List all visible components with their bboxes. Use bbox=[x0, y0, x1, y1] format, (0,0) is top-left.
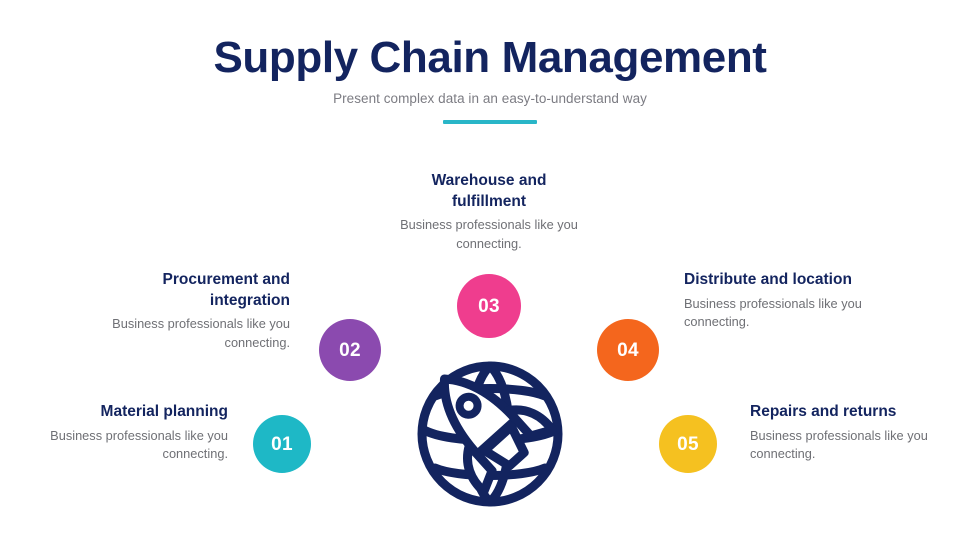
step-description-03: Business professionals like you connecti… bbox=[399, 216, 579, 254]
step-circle-01[interactable]: 01 bbox=[253, 415, 311, 473]
rocket-window bbox=[456, 393, 481, 418]
step-number-03: 03 bbox=[478, 297, 500, 316]
step-description-01: Business professionals like you connecti… bbox=[20, 427, 228, 465]
step-title-05: Repairs and returns bbox=[750, 402, 958, 423]
step-circle-02[interactable]: 02 bbox=[319, 319, 381, 381]
step-text-03: Warehouse and fulfillment Business profe… bbox=[399, 171, 579, 254]
step-description-02: Business professionals like you connecti… bbox=[96, 315, 290, 353]
step-circle-03[interactable]: 03 bbox=[457, 274, 521, 338]
step-circle-05[interactable]: 05 bbox=[659, 415, 717, 473]
step-text-05: Repairs and returns Business professiona… bbox=[750, 402, 958, 464]
step-description-05: Business professionals like you connecti… bbox=[750, 427, 958, 465]
step-text-01: Material planning Business professionals… bbox=[20, 402, 228, 464]
slide-header: Supply Chain Management Present complex … bbox=[0, 34, 980, 124]
step-circle-04[interactable]: 04 bbox=[597, 319, 659, 381]
step-title-02: Procurement and integration bbox=[96, 270, 290, 311]
slide-canvas: Supply Chain Management Present complex … bbox=[0, 0, 980, 551]
accent-divider bbox=[443, 120, 537, 124]
step-title-04: Distribute and location bbox=[684, 270, 884, 291]
globe-rocket-icon bbox=[402, 352, 578, 512]
step-title-01: Material planning bbox=[20, 402, 228, 423]
step-description-04: Business professionals like you connecti… bbox=[684, 295, 884, 333]
step-number-02: 02 bbox=[339, 341, 361, 360]
page-title: Supply Chain Management bbox=[0, 34, 980, 82]
step-text-04: Distribute and location Business profess… bbox=[684, 270, 884, 332]
step-number-05: 05 bbox=[677, 435, 699, 454]
step-number-01: 01 bbox=[271, 435, 293, 454]
step-title-03: Warehouse and fulfillment bbox=[399, 171, 579, 212]
step-number-04: 04 bbox=[617, 341, 639, 360]
step-text-02: Procurement and integration Business pro… bbox=[96, 270, 290, 353]
page-subtitle: Present complex data in an easy-to-under… bbox=[0, 91, 980, 106]
